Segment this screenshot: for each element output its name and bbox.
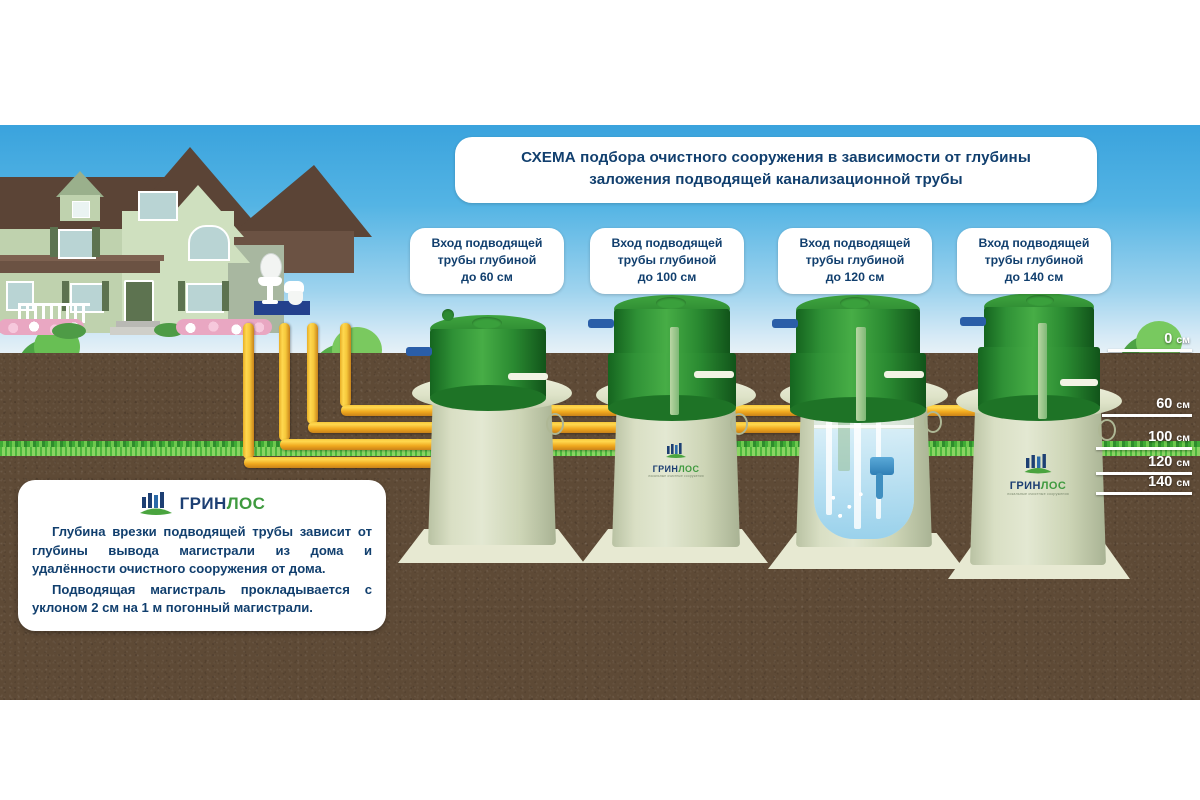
outlet-pipe xyxy=(884,371,924,378)
tank-brand-name: ГРИНЛОС xyxy=(630,464,722,474)
house-illustration xyxy=(0,125,362,340)
depth-marker-140: 140 см xyxy=(1096,475,1192,495)
treatment-unit-1 xyxy=(398,321,588,591)
depth-marker-60: 60 см xyxy=(1102,397,1192,417)
depth-value: 140 xyxy=(1148,474,1172,490)
callout-line-3: до 140 см xyxy=(968,269,1100,286)
scene: ГРИНЛОС локальные очистные сооружения xyxy=(0,125,1200,700)
cable-gland xyxy=(960,317,986,326)
brand-logo: ГРИНЛОС xyxy=(32,491,372,517)
brand-emblem-icon xyxy=(1023,453,1053,475)
depth-value: 100 xyxy=(1148,429,1172,445)
depth-unit: см xyxy=(1176,399,1190,411)
inspection-hatch xyxy=(656,297,686,309)
tank-brand-tagline: локальные очистные сооружения xyxy=(630,474,722,478)
callout-line-2: трубы глубиной xyxy=(421,252,553,269)
riser-fin xyxy=(856,327,866,421)
depth-unit: см xyxy=(1176,477,1190,489)
info-box: ГРИНЛОС Глубина врезки подводящей трубы … xyxy=(18,480,386,631)
lifting-lug xyxy=(546,413,564,435)
title-line-1: СХЕМА подбора очистного сооружения в зав… xyxy=(471,147,1081,169)
callout-line-2: трубы глубиной xyxy=(968,252,1100,269)
depth-value: 60 xyxy=(1156,396,1172,412)
depth-rule xyxy=(1102,414,1192,417)
pipe-drop-4 xyxy=(340,323,351,407)
brand-emblem-icon xyxy=(139,491,173,517)
callout-depth-120: Вход подводящей трубы глубиной до 120 см xyxy=(778,228,932,294)
pipe-drop-3 xyxy=(307,323,318,424)
chamber-divider xyxy=(814,425,914,428)
title-line-2: заложения подводящей канализационной тру… xyxy=(471,169,1081,191)
tank-brand-tagline: локальные очистные сооружения xyxy=(990,492,1086,496)
callout-line-3: до 120 см xyxy=(789,269,921,286)
pipe-drop-1 xyxy=(243,323,254,459)
tank-brand-name: ГРИНЛОС xyxy=(990,480,1086,492)
treatment-unit-2: ГРИНЛОС локальные очистные сооружения xyxy=(582,303,772,593)
callout-line-1: Вход подводящей xyxy=(968,235,1100,252)
depth-unit: см xyxy=(1176,457,1190,469)
depth-marker-0: 0 см xyxy=(1108,332,1192,352)
depth-rule xyxy=(1108,349,1192,352)
lifting-lug xyxy=(924,411,942,433)
info-paragraph-1: Глубина врезки подводящей трубы зависит … xyxy=(32,523,372,579)
tank-brand-logo: ГРИНЛОС локальные очистные сооружения xyxy=(990,453,1086,496)
pump-unit xyxy=(870,457,894,475)
depth-unit: см xyxy=(1176,334,1190,346)
pipe-drop-2 xyxy=(279,323,290,441)
treatment-unit-3 xyxy=(768,311,968,601)
callout-depth-100: Вход подводящей трубы глубиной до 100 см xyxy=(590,228,744,294)
depth-marker-100: 100 см xyxy=(1096,430,1192,450)
depth-value: 0 xyxy=(1164,331,1172,347)
depth-unit: см xyxy=(1176,432,1190,444)
pump-outlet xyxy=(876,473,883,499)
callout-line-3: до 60 см xyxy=(421,269,553,286)
depth-rule xyxy=(1096,447,1192,450)
callout-line-2: трубы глубиной xyxy=(789,252,921,269)
callout-depth-140: Вход подводящей трубы глубиной до 140 см xyxy=(957,228,1111,294)
callout-line-1: Вход подводящей xyxy=(789,235,921,252)
page-title: СХЕМА подбора очистного сооружения в зав… xyxy=(455,137,1097,203)
callout-depth-60: Вход подводящей трубы глубиной до 60 см xyxy=(410,228,564,294)
brand-emblem-icon xyxy=(665,443,687,459)
info-paragraph-2: Подводящая магистраль прокладывается с у… xyxy=(32,581,372,618)
depth-marker-120: 120 см xyxy=(1096,455,1192,475)
cable-gland xyxy=(588,319,614,328)
callout-line-2: трубы глубиной xyxy=(601,252,733,269)
outlet-pipe xyxy=(694,371,734,378)
inspection-hatch xyxy=(840,297,870,309)
depth-value: 120 xyxy=(1148,454,1172,470)
callout-line-3: до 100 см xyxy=(601,269,733,286)
aeration-bubbles xyxy=(824,487,870,523)
cable-gland xyxy=(772,319,798,328)
riser-fin xyxy=(1038,323,1047,419)
callout-line-1: Вход подводящей xyxy=(601,235,733,252)
inspection-hatch xyxy=(472,317,502,329)
infographic-canvas: ГРИНЛОС локальные очистные сооружения xyxy=(0,0,1200,800)
tank-brand-logo: ГРИНЛОС локальные очистные сооружения xyxy=(630,443,722,478)
lifting-lug xyxy=(730,413,748,435)
riser-base-ellipse xyxy=(430,385,546,411)
outlet-pipe xyxy=(1060,379,1098,386)
callout-line-1: Вход подводящей xyxy=(421,235,553,252)
info-text: Глубина врезки подводящей трубы зависит … xyxy=(32,523,372,618)
inspection-hatch xyxy=(1026,295,1054,306)
brand-name: ГРИНЛОС xyxy=(180,494,266,514)
outlet-pipe xyxy=(508,373,548,380)
depth-rule xyxy=(1096,492,1192,495)
riser-fin xyxy=(670,327,679,415)
vent-cap xyxy=(442,309,454,321)
cable-gland xyxy=(406,347,432,356)
